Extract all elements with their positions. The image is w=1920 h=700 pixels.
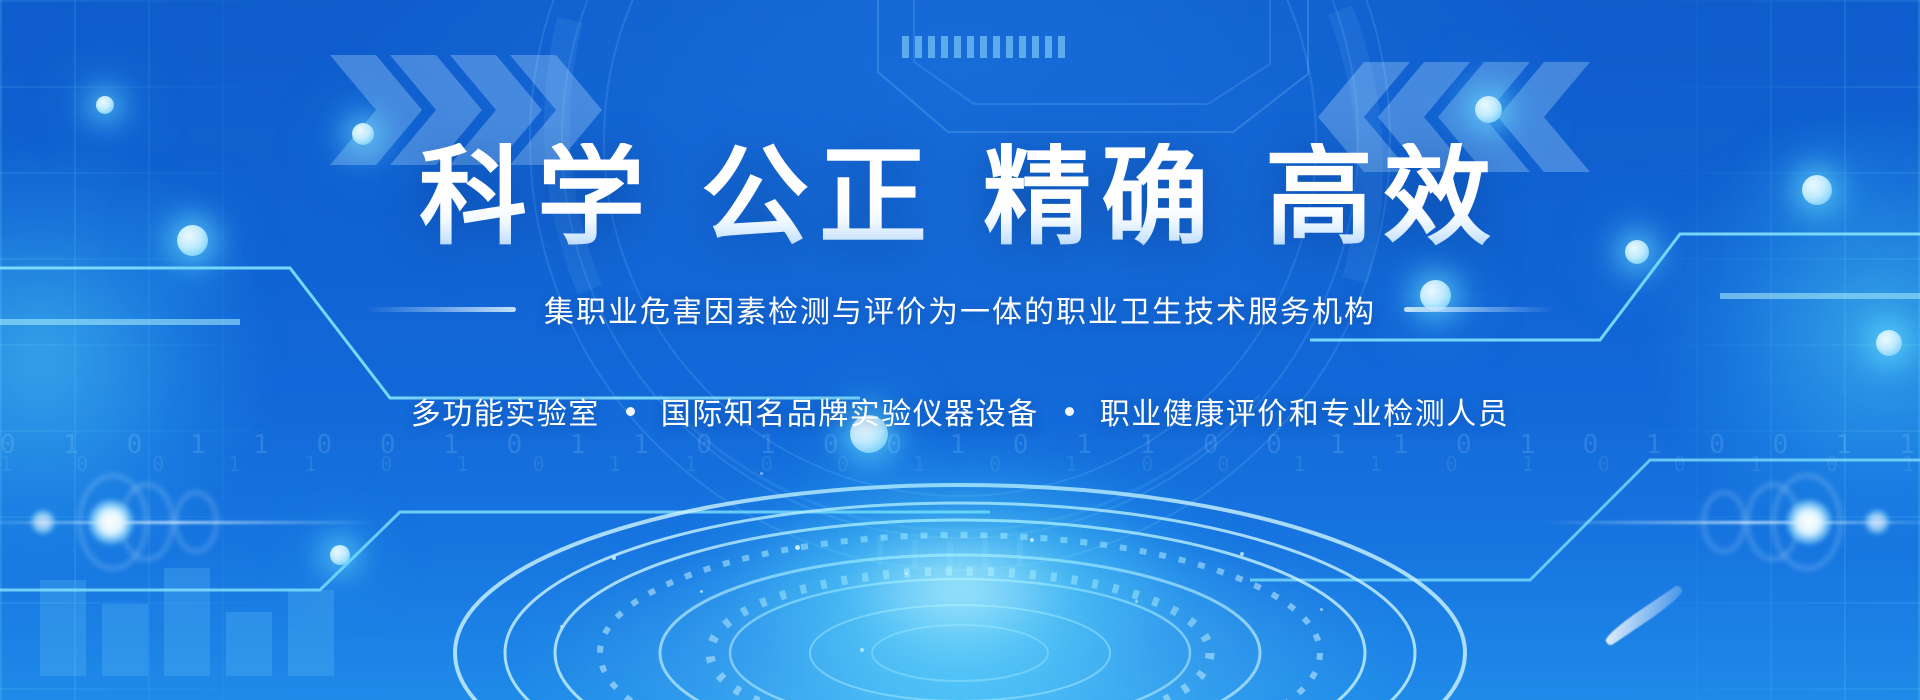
subtitle-rule-right	[1404, 307, 1554, 312]
subtitle-rule-left	[366, 307, 516, 312]
tagline-separator-dot-icon	[1065, 407, 1074, 416]
subtitle-row: 集职业危害因素检测与评价为一体的职业卫生技术服务机构	[366, 287, 1554, 331]
tagline-item-3: 职业健康评价和专业检测人员	[1100, 389, 1510, 433]
page-title: 科学公正精确高效	[419, 143, 1501, 251]
tagline-row: 多功能实验室 国际知名品牌实验仪器设备 职业健康评价和专业检测人员	[411, 389, 1510, 433]
subtitle-text: 集职业危害因素检测与评价为一体的职业卫生技术服务机构	[544, 287, 1376, 331]
title-word-4: 高效	[1265, 136, 1501, 257]
banner-content: 科学公正精确高效 集职业危害因素检测与评价为一体的职业卫生技术服务机构 多功能实…	[0, 0, 1920, 700]
hero-banner: 0 1 0 1 1 0 0 1 0 1 1 0 1 0 0 1 0 1 1 0 …	[0, 0, 1920, 700]
title-word-2: 公正	[701, 136, 937, 257]
tagline-separator-dot-icon	[626, 407, 635, 416]
title-word-1: 科学	[419, 136, 655, 257]
tagline-item-2: 国际知名品牌实验仪器设备	[661, 389, 1039, 433]
tagline-item-1: 多功能实验室	[411, 389, 600, 433]
title-word-3: 精确	[983, 136, 1219, 257]
